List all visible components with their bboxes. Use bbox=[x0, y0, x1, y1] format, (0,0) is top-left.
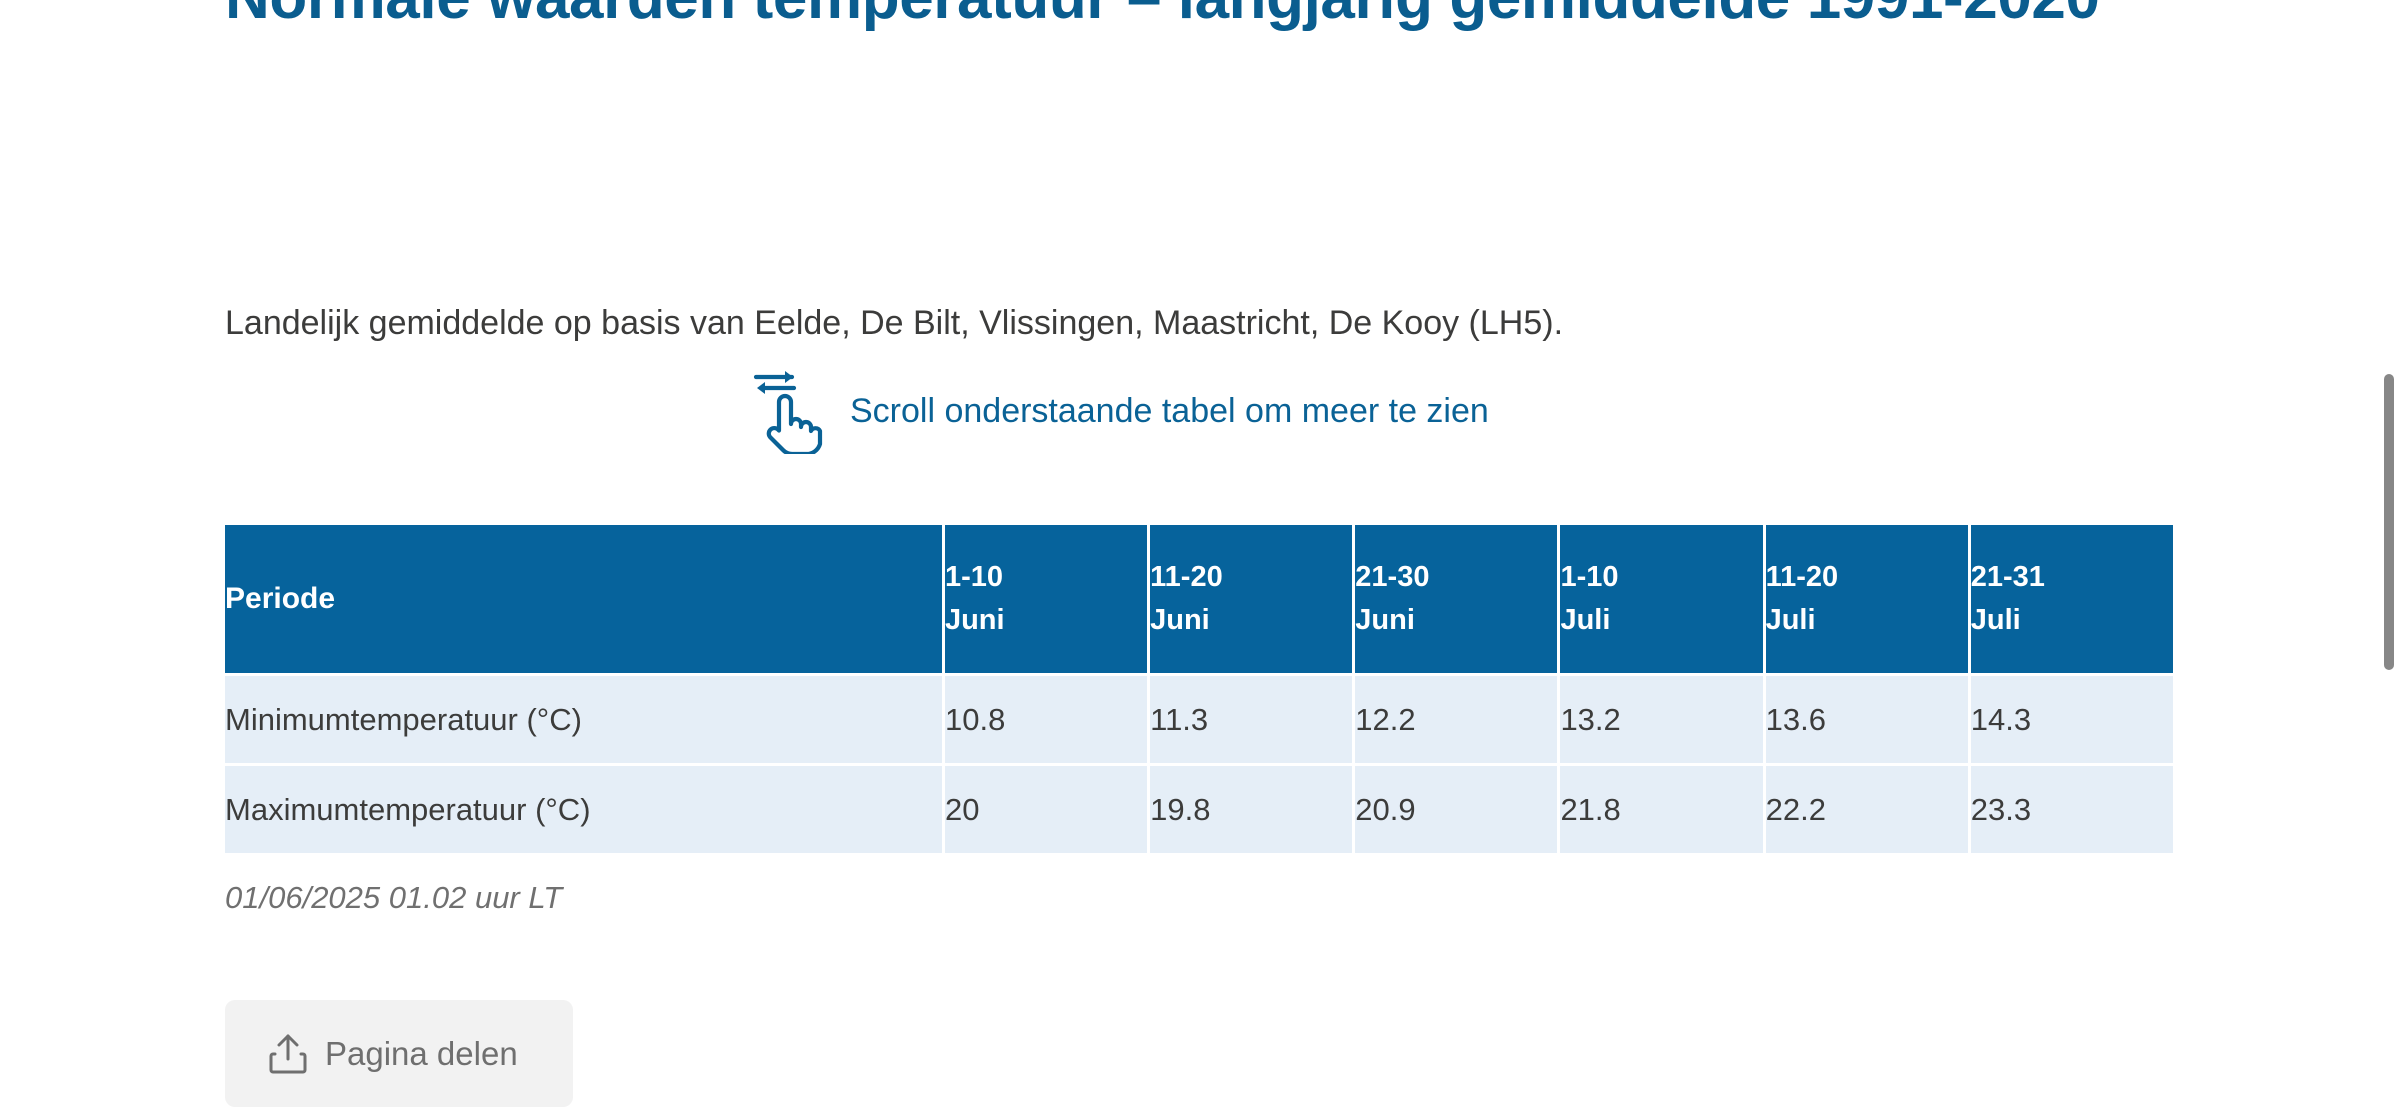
cell-max-1-10-juni: 20 bbox=[945, 766, 1147, 853]
column-header-range: 21-30 bbox=[1355, 558, 1557, 597]
scroll-hint-label: Scroll onderstaande tabel om meer te zie… bbox=[850, 394, 1489, 428]
column-header-periode: Periode bbox=[225, 525, 942, 673]
column-header-range: 11-20 bbox=[1150, 558, 1352, 597]
scroll-hint: Scroll onderstaande tabel om meer te zie… bbox=[752, 368, 1489, 454]
column-header-month: Juni bbox=[945, 601, 1147, 640]
page-scrollbar[interactable] bbox=[2378, 0, 2400, 1107]
column-header-1-10-juni: 1-10 Juni bbox=[945, 525, 1147, 673]
column-header-month: Juli bbox=[1971, 601, 2173, 640]
table-header-row: Periode 1-10 Juni 11-20 Juni 21-30 Juni bbox=[225, 525, 2173, 673]
table-body: Minimumtemperatuur (°C) 10.8 11.3 12.2 1… bbox=[225, 676, 2173, 853]
column-header-11-20-juni: 11-20 Juni bbox=[1150, 525, 1352, 673]
cell-max-21-31-juli: 23.3 bbox=[1971, 766, 2173, 853]
share-icon bbox=[269, 1033, 307, 1075]
share-page-button[interactable]: Pagina delen bbox=[225, 1000, 573, 1107]
page-scrollbar-thumb[interactable] bbox=[2384, 374, 2394, 670]
cell-max-11-20-juni: 19.8 bbox=[1150, 766, 1352, 853]
column-header-month: Juli bbox=[1766, 601, 1968, 640]
column-header-1-10-juli: 1-10 Juli bbox=[1560, 525, 1762, 673]
hand-scroll-horizontal-icon bbox=[752, 368, 830, 454]
cell-min-21-30-juni: 12.2 bbox=[1355, 676, 1557, 763]
normals-temperature-table: Periode 1-10 Juni 11-20 Juni 21-30 Juni bbox=[225, 525, 2173, 853]
cell-min-21-31-juli: 14.3 bbox=[1971, 676, 2173, 763]
share-page-label: Pagina delen bbox=[325, 1037, 518, 1070]
cell-min-11-20-juli: 13.6 bbox=[1766, 676, 1968, 763]
column-header-range: 1-10 bbox=[1560, 558, 1762, 597]
cell-min-1-10-juli: 13.2 bbox=[1560, 676, 1762, 763]
row-label-minimumtemperatuur: Minimumtemperatuur (°C) bbox=[225, 676, 942, 763]
column-header-range: 21-31 bbox=[1971, 558, 2173, 597]
table-row: Minimumtemperatuur (°C) 10.8 11.3 12.2 1… bbox=[225, 676, 2173, 763]
cell-min-1-10-juni: 10.8 bbox=[945, 676, 1147, 763]
cell-min-11-20-juni: 11.3 bbox=[1150, 676, 1352, 763]
last-updated-timestamp: 01/06/2025 01.02 uur LT bbox=[225, 880, 562, 916]
intro-paragraph: Landelijk gemiddelde op basis van Eelde,… bbox=[225, 299, 1563, 348]
row-label-maximumtemperatuur: Maximumtemperatuur (°C) bbox=[225, 766, 942, 853]
cell-max-1-10-juli: 21.8 bbox=[1560, 766, 1762, 853]
cell-max-11-20-juli: 22.2 bbox=[1766, 766, 1968, 853]
page-title: Normale waarden temperatuur – langjarig … bbox=[225, 0, 2125, 35]
column-header-11-20-juli: 11-20 Juli bbox=[1766, 525, 1968, 673]
page-root: Normale waarden temperatuur – langjarig … bbox=[0, 0, 2400, 1107]
column-header-month: Juni bbox=[1150, 601, 1352, 640]
column-header-month: Juli bbox=[1560, 601, 1762, 640]
column-header-21-30-juni: 21-30 Juni bbox=[1355, 525, 1557, 673]
page-title-block: Normale waarden temperatuur – langjarig … bbox=[225, 0, 2125, 35]
column-header-month: Juni bbox=[1355, 601, 1557, 640]
table-scroll-container[interactable]: Periode 1-10 Juni 11-20 Juni 21-30 Juni bbox=[225, 525, 2173, 853]
column-header-range: 1-10 bbox=[945, 558, 1147, 597]
table-row: Maximumtemperatuur (°C) 20 19.8 20.9 21.… bbox=[225, 766, 2173, 853]
table-header: Periode 1-10 Juni 11-20 Juni 21-30 Juni bbox=[225, 525, 2173, 673]
column-header-periode-label: Periode bbox=[225, 579, 942, 620]
column-header-21-31-juli: 21-31 Juli bbox=[1971, 525, 2173, 673]
cell-max-21-30-juni: 20.9 bbox=[1355, 766, 1557, 853]
column-header-range: 11-20 bbox=[1766, 558, 1968, 597]
